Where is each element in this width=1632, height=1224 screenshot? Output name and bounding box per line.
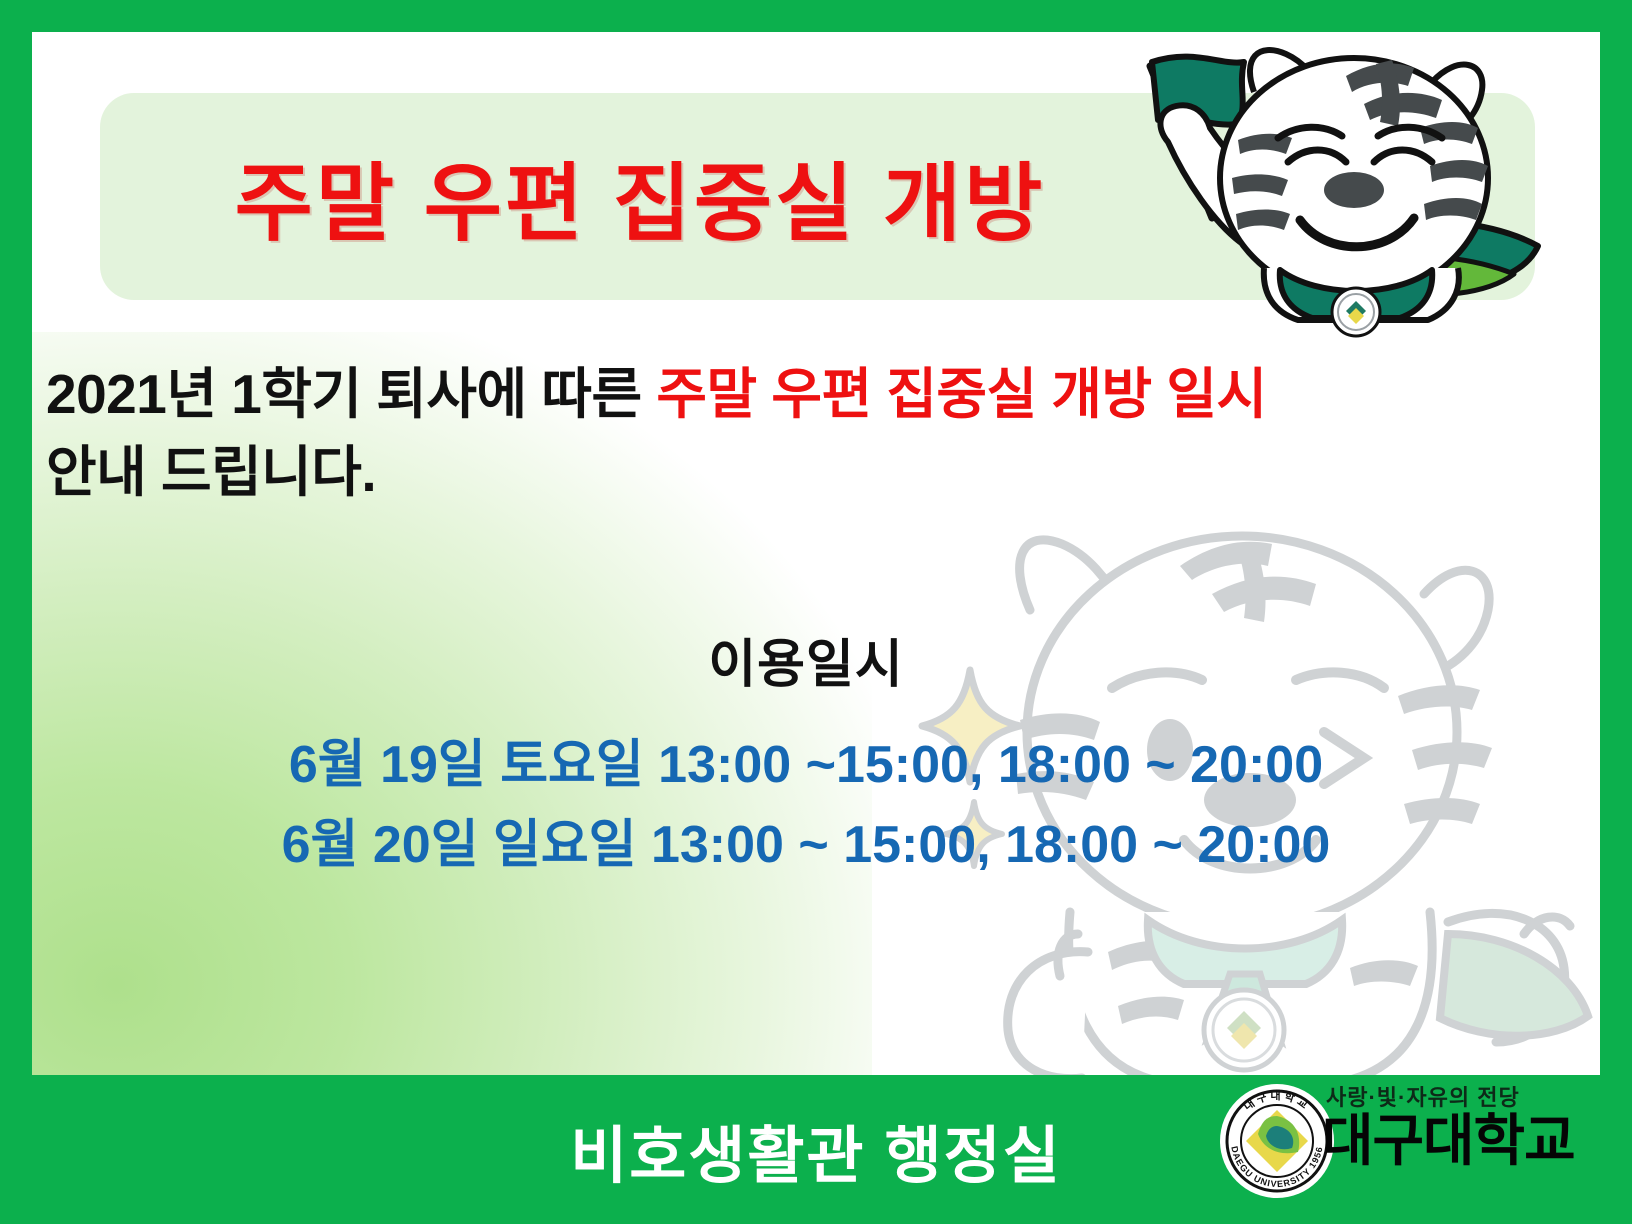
university-logo-lockup: 대구대학교 DAEGU UNIVERSITY 1956 사랑·빛·자유의 전당 …	[1218, 1068, 1618, 1208]
body-paragraph: 2021년 1학기 퇴사에 따른 주말 우편 집중실 개방 일시 안내 드립니다…	[46, 355, 1566, 511]
body-line-1: 2021년 1학기 퇴사에 따른 주말 우편 집중실 개방 일시	[46, 355, 1566, 433]
page-title: 주말 우편 집중실 개방	[100, 93, 1180, 300]
schedule-list: 6월 19일 토요일 13:00 ~15:00, 18:00 ~ 20:00 6…	[46, 725, 1566, 885]
body-line-2: 안내 드립니다.	[46, 433, 1566, 511]
schedule-line-saturday: 6월 19일 토요일 13:00 ~15:00, 18:00 ~ 20:00	[46, 725, 1566, 805]
university-name: 대구대학교	[1322, 1112, 1622, 1171]
poster-canvas: 주말 우편 집중실 개방	[32, 32, 1600, 1075]
body-lead-text: 2021년 1학기 퇴사에 따른	[46, 363, 656, 425]
schedule-heading: 이용일시	[46, 622, 1566, 697]
body-highlight-text: 주말 우편 집중실 개방 일시	[656, 363, 1266, 425]
university-tagline: 사랑·빛·자유의 전당	[1326, 1080, 1622, 1112]
university-wordmark: 사랑·빛·자유의 전당 대구대학교	[1322, 1080, 1622, 1171]
poster-root: 주말 우편 집중실 개방	[0, 0, 1632, 1224]
tiger-mascot-illustration	[1102, 32, 1542, 322]
schedule-line-sunday: 6월 20일 일요일 13:00 ~ 15:00, 18:00 ~ 20:00	[46, 805, 1566, 885]
university-emblem-icon: 대구대학교 DAEGU UNIVERSITY 1956	[1218, 1082, 1336, 1200]
